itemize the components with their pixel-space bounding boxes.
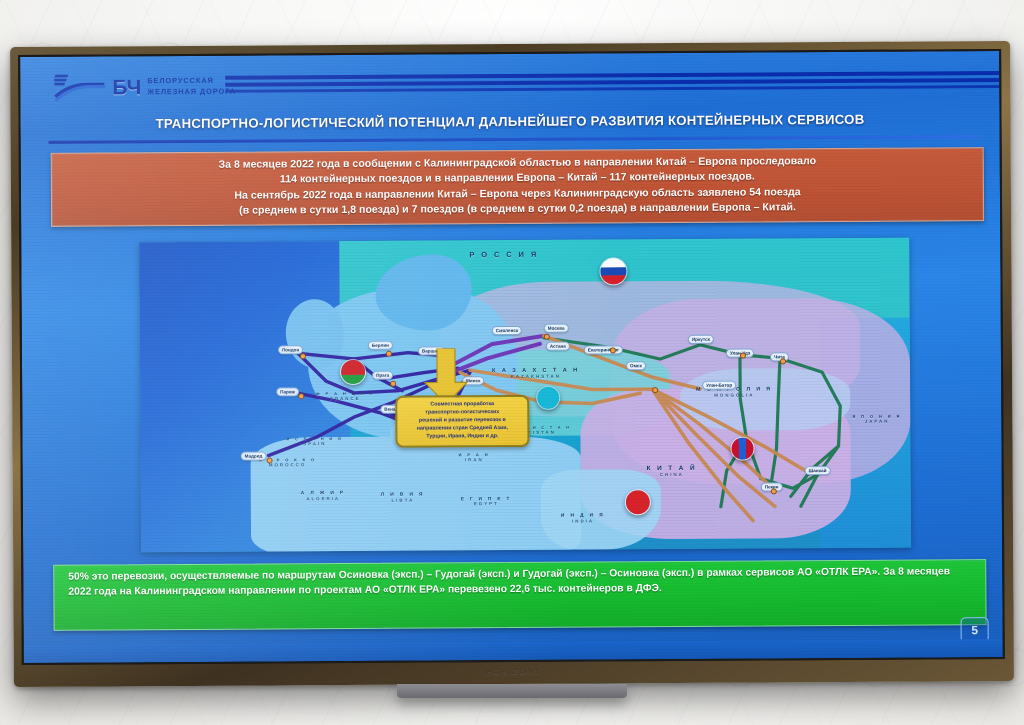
monitor-stand <box>397 684 627 698</box>
logo-line-1: БЕЛОРУССКАЯ <box>147 76 236 87</box>
bch-railway-logo-icon <box>54 72 106 102</box>
flag-belarus <box>340 359 366 385</box>
city-label: Астана <box>546 342 570 351</box>
green-callout: 50% это перевозки, осуществляемые по мар… <box>53 559 986 631</box>
city-label: Иркутск <box>688 335 714 344</box>
city-label: Прага <box>372 371 393 380</box>
city-label: Мадрид <box>241 452 267 461</box>
city-label: Париж <box>276 387 299 396</box>
route-lines <box>139 238 911 553</box>
monitor-screen: БЧ БЕЛОРУССКАЯ ЖЕЛЕЗНАЯ ДОРОГА ТРАНСПОРТ… <box>18 49 1005 665</box>
city-label: Шанхай <box>805 466 831 475</box>
city-label: Берлин <box>368 341 393 350</box>
city-label: Екатеринбург <box>584 345 623 354</box>
bch-logo: БЧ БЕЛОРУССКАЯ ЖЕЛЕЗНАЯ ДОРОГА <box>54 72 236 103</box>
header-decorative-bars <box>225 71 999 100</box>
flag-russia <box>599 257 627 285</box>
title-underline <box>49 135 980 144</box>
slide-title: ТРАНСПОРТНО-ЛОГИСТИЧЕСКИЙ ПОТЕНЦИАЛ ДАЛЬ… <box>20 105 999 137</box>
city-label: Улан-Батор <box>702 381 736 390</box>
flag-mongolia <box>730 437 754 461</box>
city-label: Москва <box>544 324 569 333</box>
display-monitor: БЧ БЕЛОРУССКАЯ ЖЕЛЕЗНАЯ ДОРОГА ТРАНСПОРТ… <box>10 41 1014 687</box>
logo-abbr: БЧ <box>112 77 141 98</box>
city-label: Лондон <box>278 345 303 354</box>
logo-line-2: ЖЕЛЕЗНАЯ ДОРОГА <box>147 87 236 98</box>
yellow-line-5: Турции, Ирана, Индии и др. <box>402 433 522 442</box>
yellow-line-4: направлении стран Средней Азии, <box>402 425 522 434</box>
orange-callout: За 8 месяцев 2022 года в сообщении с Кал… <box>51 147 984 226</box>
route-map: Р О С С И Я К А З А Х С Т А НKAZAKHSTAN … <box>139 238 911 553</box>
city-label: Смоленск <box>492 326 522 335</box>
city-label: Омск <box>626 361 646 370</box>
flag-kazakhstan <box>536 386 560 410</box>
logo-wordmark: БЕЛОРУССКАЯ ЖЕЛЕЗНАЯ ДОРОГА <box>147 76 236 98</box>
yellow-callout: Совместная проработка транспортно-логист… <box>395 395 529 448</box>
green-callout-text: 50% это перевозки, осуществляемые по мар… <box>68 565 971 600</box>
flag-china <box>625 489 651 515</box>
presentation-slide: БЧ БЕЛОРУССКАЯ ЖЕЛЕЗНАЯ ДОРОГА ТРАНСПОРТ… <box>20 51 1003 663</box>
